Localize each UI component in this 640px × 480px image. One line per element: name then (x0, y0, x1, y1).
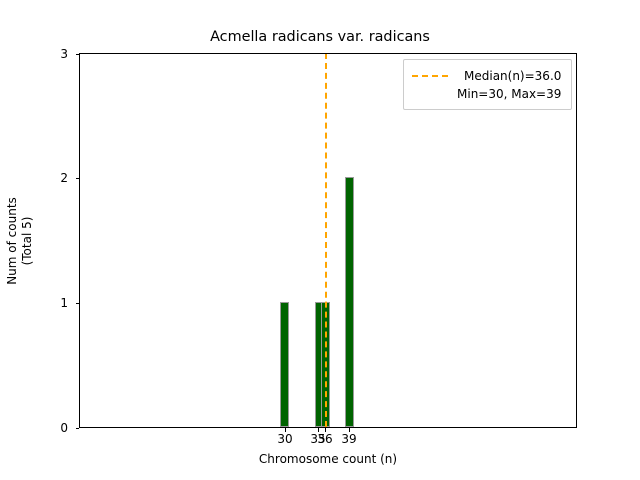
xtick-label-36: 36 (317, 433, 332, 446)
median-line (325, 54, 327, 427)
dashed-line-swatch-icon (412, 75, 448, 77)
xtick-mark-35 (318, 428, 319, 432)
xtick-label-39: 39 (341, 433, 356, 446)
chart-legend: Median(n)=36.0 Min=30, Max=39 (403, 59, 572, 110)
legend-median-label: Median(n)=36.0 (457, 67, 561, 85)
legend-range-label: Min=30, Max=39 (457, 85, 561, 103)
y-axis-label: Num of counts (Total 5) (5, 197, 35, 285)
legend-entry-text: Median(n)=36.0 Min=30, Max=39 (457, 67, 561, 103)
ytick-label-3: 3 (60, 48, 68, 60)
bar-n-39 (345, 177, 354, 427)
xtick-mark-36 (325, 428, 326, 432)
xtick-mark-39 (349, 428, 350, 432)
legend-entry-median: Median(n)=36.0 Min=30, Max=39 (412, 67, 561, 103)
ytick-label-1: 1 (60, 297, 68, 309)
y-axis-label-line1: Num of counts (5, 197, 19, 285)
xtick-label-30: 30 (277, 433, 292, 446)
ytick-label-0: 0 (60, 422, 68, 434)
ytick-label-2: 2 (60, 172, 68, 184)
matplotlib-figure: Acmella radicans var. radicans 0 1 2 3 3… (0, 0, 640, 480)
bar-n-30 (280, 302, 289, 427)
chart-title: Acmella radicans var. radicans (0, 29, 640, 45)
x-axis-label: Chromosome count (n) (79, 452, 577, 466)
y-axis-label-line2: (Total 5) (20, 197, 35, 285)
y-axis-label-wrap: Num of counts (Total 5) (0, 53, 40, 428)
xtick-mark-30 (285, 428, 286, 432)
